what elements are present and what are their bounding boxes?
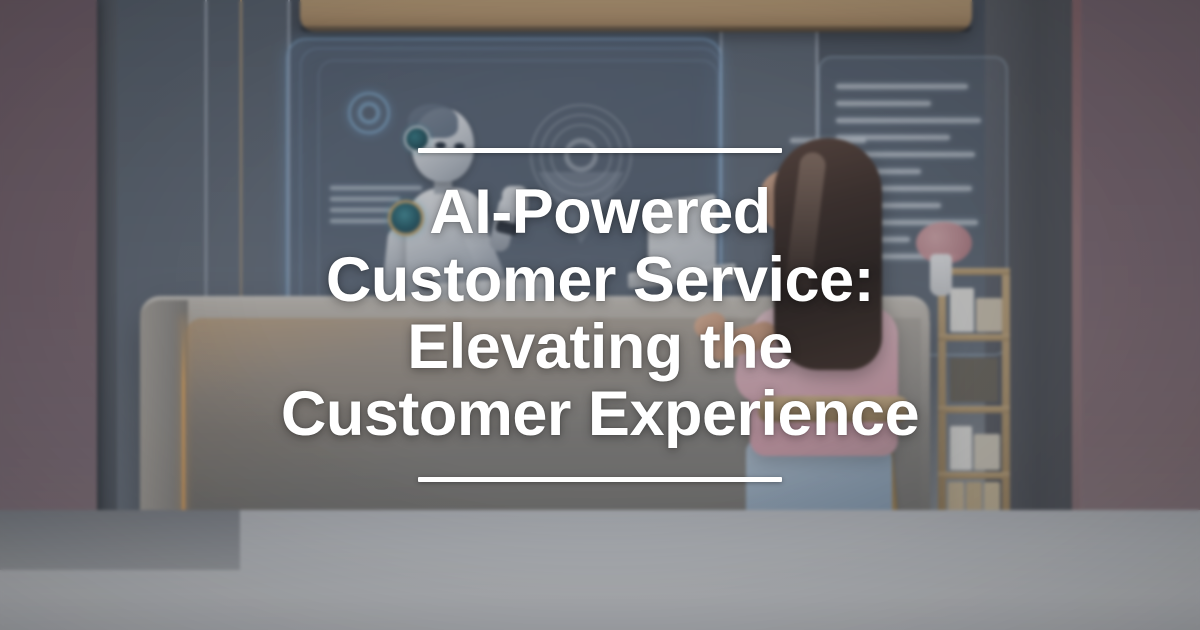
title-line-4: Customer Experience: [281, 381, 919, 448]
title-line-1: AI-Powered: [281, 179, 919, 246]
divider-bottom: [418, 477, 782, 482]
social-share-banner: AI-Powered Customer Service: Elevating t…: [0, 0, 1200, 630]
divider-top: [418, 148, 782, 153]
title-line-2: Customer Service:: [281, 247, 919, 314]
page-title: AI-Powered Customer Service: Elevating t…: [281, 179, 919, 449]
title-overlay: AI-Powered Customer Service: Elevating t…: [0, 0, 1200, 630]
title-line-3: Elevating the: [281, 314, 919, 381]
